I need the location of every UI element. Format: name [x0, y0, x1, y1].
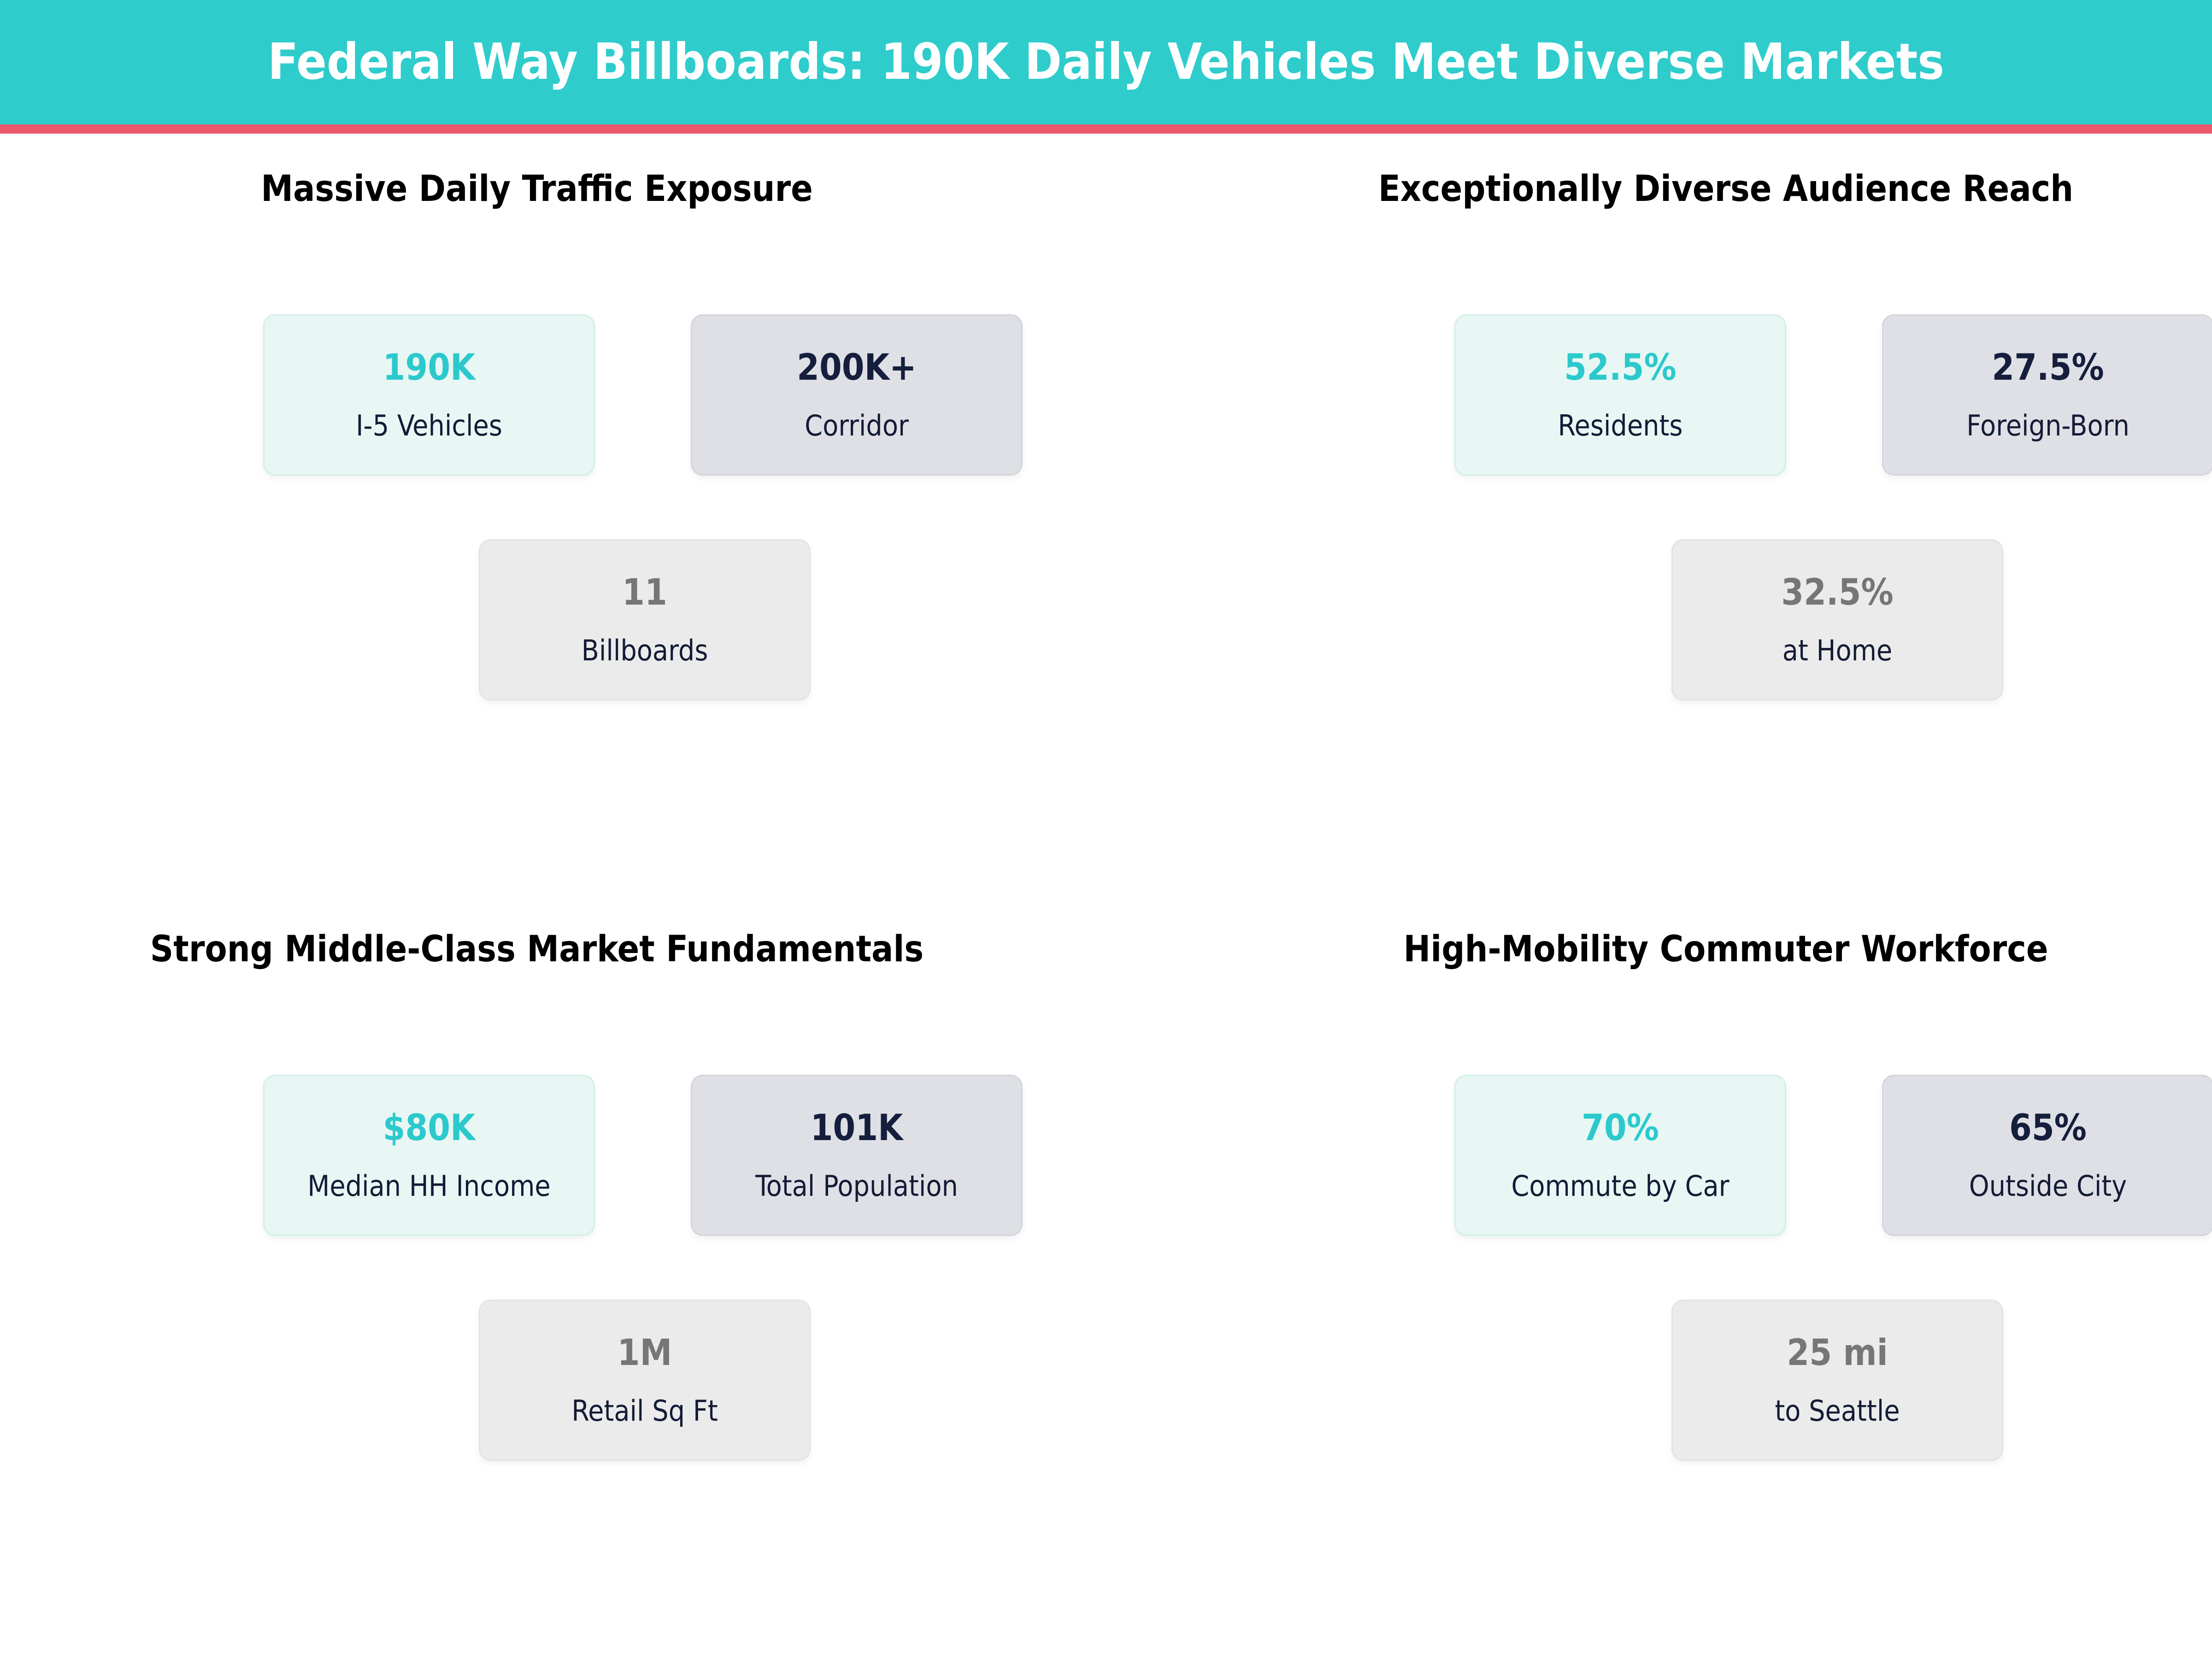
- metric-card[interactable]: 101K Total Population: [691, 1075, 1023, 1236]
- card-row-top: 190K I-5 Vehicles 200K+ Corridor: [263, 314, 1023, 476]
- card-group: $80K Median HH Income 101K Total Populat…: [0, 1075, 1244, 1461]
- card-row-bottom: 1M Retail Sq Ft: [41, 1300, 1244, 1461]
- metric-value: 32.5%: [1781, 575, 1893, 611]
- section-title: Massive Daily Traffic Exposure: [261, 171, 813, 208]
- card-row-top: 52.5% Residents 27.5% Foreign-Born: [1454, 314, 2212, 476]
- metric-card[interactable]: 200K+ Corridor: [691, 314, 1023, 476]
- metric-label: at Home: [1783, 636, 1893, 665]
- card-group: 70% Commute by Car 65% Outside City 25 m…: [1244, 1075, 2212, 1461]
- metric-card[interactable]: $80K Median HH Income: [263, 1075, 595, 1236]
- metric-label: Corridor: [805, 412, 909, 440]
- card-row-top: 70% Commute by Car 65% Outside City: [1454, 1075, 2212, 1236]
- metric-value: 27.5%: [1992, 350, 2104, 386]
- header-accent-rule: [0, 124, 2212, 134]
- metric-label: Residents: [1558, 412, 1683, 440]
- quadrant-traffic-exposure: Massive Daily Traffic Exposure 190K I-5 …: [0, 134, 1244, 894]
- card-row-bottom: 11 Billboards: [41, 539, 1244, 700]
- metric-label: I-5 Vehicles: [356, 412, 502, 440]
- page-title: Federal Way Billboards: 190K Daily Vehic…: [268, 37, 1944, 87]
- metric-card[interactable]: 1M Retail Sq Ft: [479, 1300, 811, 1461]
- quadrant-commuter-workforce: High-Mobility Commuter Workforce 70% Com…: [1244, 894, 2212, 1654]
- infographic-page: Federal Way Billboards: 190K Daily Vehic…: [0, 0, 2212, 1659]
- metric-card[interactable]: 52.5% Residents: [1454, 314, 1786, 476]
- metric-label: Foreign-Born: [1966, 412, 2130, 440]
- quadrant-market-fundamentals: Strong Middle-Class Market Fundamentals …: [0, 894, 1244, 1654]
- metric-label: Outside City: [1969, 1172, 2127, 1200]
- quadrant-grid: Massive Daily Traffic Exposure 190K I-5 …: [0, 134, 2212, 1659]
- card-group: 190K I-5 Vehicles 200K+ Corridor 11 Bill…: [0, 314, 1244, 700]
- section-title: Strong Middle-Class Market Fundamentals: [150, 931, 924, 969]
- metric-card[interactable]: 27.5% Foreign-Born: [1882, 314, 2212, 476]
- metric-value: $80K: [383, 1110, 476, 1146]
- card-row-bottom: 32.5% at Home: [1456, 539, 2212, 700]
- metric-value: 52.5%: [1564, 350, 1676, 386]
- metric-card[interactable]: 25 mi to Seattle: [1671, 1300, 2003, 1461]
- metric-value: 200K+: [797, 350, 917, 386]
- card-group: 52.5% Residents 27.5% Foreign-Born 32.5%…: [1244, 314, 2212, 700]
- header-banner: Federal Way Billboards: 190K Daily Vehic…: [0, 0, 2212, 124]
- metric-label: Commute by Car: [1511, 1172, 1729, 1200]
- section-title: Exceptionally Diverse Audience Reach: [1378, 171, 2073, 208]
- metric-value: 11: [622, 575, 667, 611]
- metric-card[interactable]: 65% Outside City: [1882, 1075, 2212, 1236]
- metric-value: 190K: [383, 350, 476, 386]
- section-title: High-Mobility Commuter Workforce: [1403, 931, 2048, 969]
- metric-card[interactable]: 32.5% at Home: [1671, 539, 2003, 700]
- metric-value: 25 mi: [1787, 1335, 1888, 1371]
- metric-label: Median HH Income: [307, 1172, 551, 1200]
- card-row-bottom: 25 mi to Seattle: [1456, 1300, 2212, 1461]
- metric-card[interactable]: 11 Billboards: [479, 539, 811, 700]
- metric-value: 65%: [2009, 1110, 2087, 1146]
- metric-card[interactable]: 70% Commute by Car: [1454, 1075, 1786, 1236]
- metric-label: to Seattle: [1775, 1397, 1900, 1425]
- metric-label: Billboards: [582, 636, 708, 665]
- metric-label: Retail Sq Ft: [571, 1397, 718, 1425]
- metric-value: 101K: [811, 1110, 903, 1146]
- metric-value: 70%: [1582, 1110, 1659, 1146]
- quadrant-audience-reach: Exceptionally Diverse Audience Reach 52.…: [1244, 134, 2212, 894]
- metric-value: 1M: [618, 1335, 672, 1371]
- metric-card[interactable]: 190K I-5 Vehicles: [263, 314, 595, 476]
- card-row-top: $80K Median HH Income 101K Total Populat…: [263, 1075, 1023, 1236]
- metric-label: Total Population: [755, 1172, 958, 1200]
